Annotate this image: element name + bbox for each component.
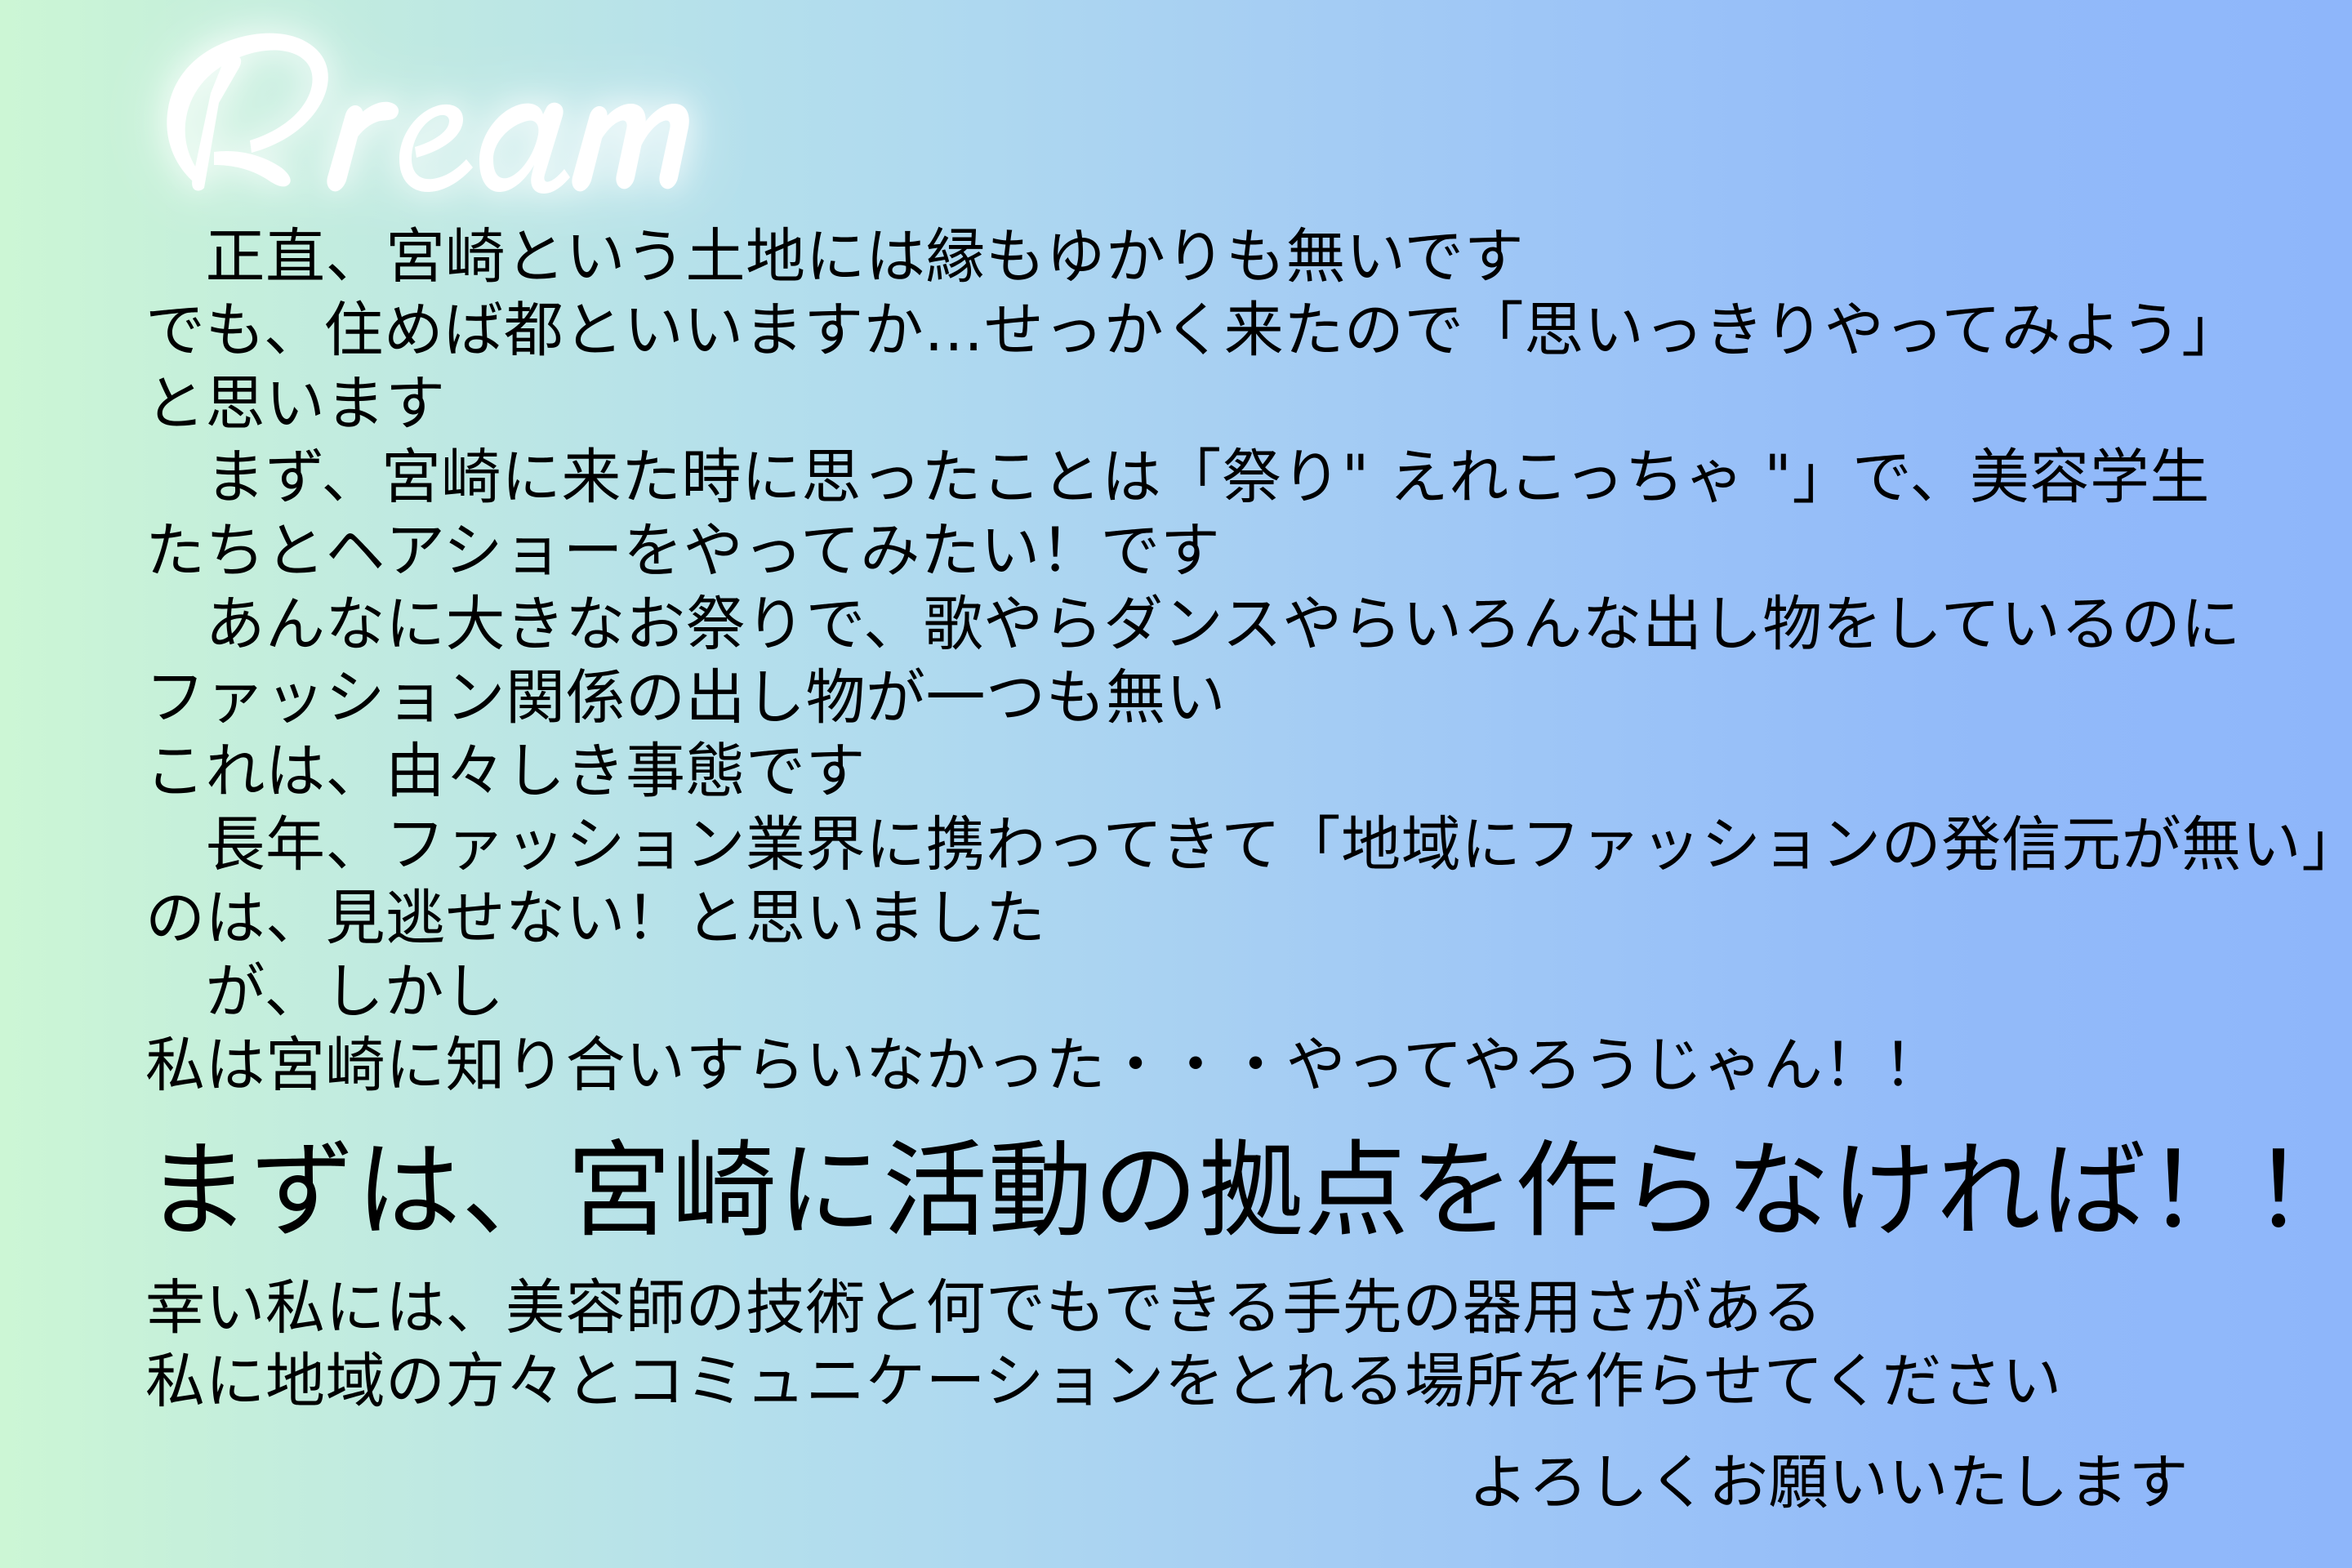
dream-logo xyxy=(114,18,702,194)
text-line: のは、見逃せない！と思いました xyxy=(0,882,2352,955)
text-line: 幸い私には、美容師の技術と何でもできる手先の器用さがある xyxy=(0,1272,2352,1345)
text-line: ファッション関係の出し物が一つも無い xyxy=(0,661,2352,735)
text-line: 私は宮崎に知り合いすらいなかった・・・やってやろうじゃん！！ xyxy=(0,1029,2352,1102)
text-line: 私に地域の方々とコミュニケーションをとれる場所を作らせてください xyxy=(0,1345,2352,1419)
text-line: これは、由々しき事態です xyxy=(0,735,2352,808)
text-line: あんなに大きなお祭りで、歌やらダンスやらいろんな出し物をしているのに xyxy=(0,588,2352,661)
text-line: と思います xyxy=(0,367,2352,441)
text-line: でも、住めば都といいますか…せっかく来たので「思いっきりやってみよう」 xyxy=(0,294,2352,367)
headline-text: まずは、宮崎に活動の拠点を作らなければ！！ xyxy=(0,1124,2352,1258)
text-line: たちとヘアショーをやってみたい！です xyxy=(0,514,2352,588)
closing-line: よろしくお願いいたします xyxy=(0,1446,2352,1520)
slide-canvas: 正直、宮崎という土地には縁もゆかりも無いです でも、住めば都といいますか…せっか… xyxy=(0,0,2352,1568)
text-line: 長年、ファッション業界に携わってきて「地域にファッションの発信元が無い」 xyxy=(0,808,2352,882)
body-text-block: 正直、宮崎という土地には縁もゆかりも無いです でも、住めば都といいますか…せっか… xyxy=(0,220,2352,1520)
text-line: 正直、宮崎という土地には縁もゆかりも無いです xyxy=(0,220,2352,294)
text-line: まず、宮崎に来た時に思ったことは「祭り" えれこっちゃ "」で、美容学生 xyxy=(0,441,2352,514)
text-line: が、しかし xyxy=(0,955,2352,1029)
